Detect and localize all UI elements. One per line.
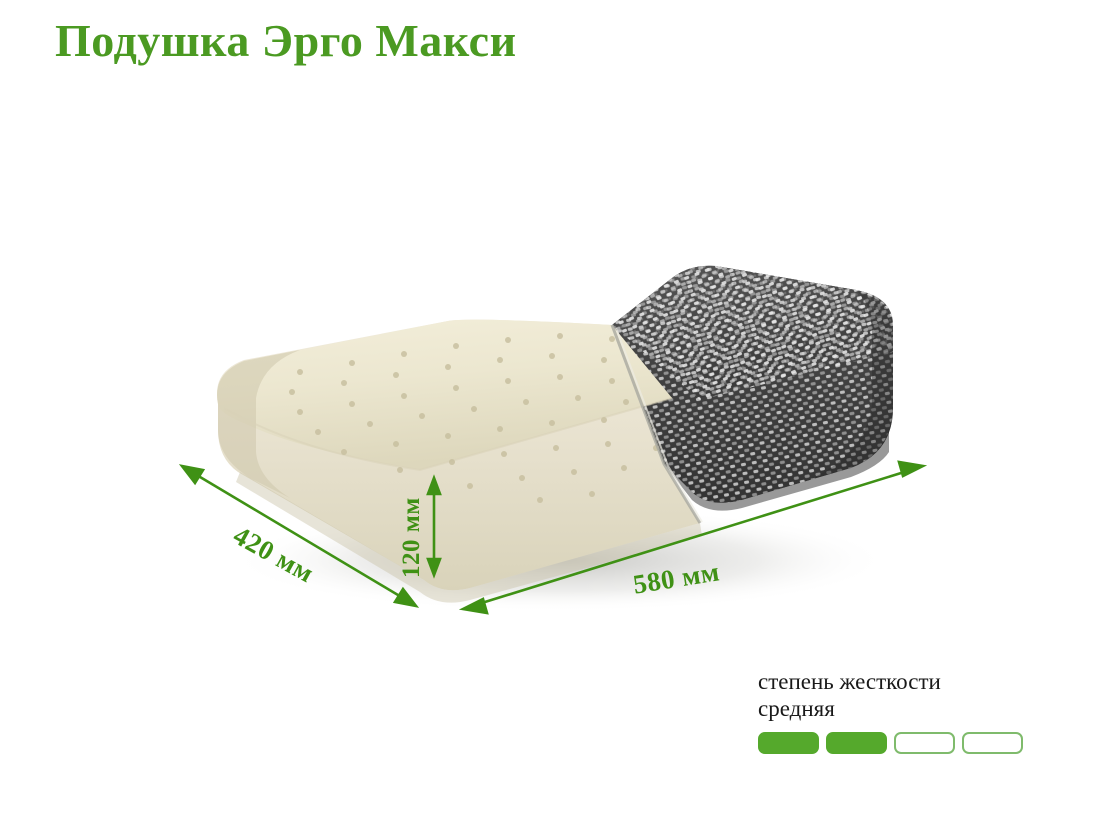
pillow-shadow: [230, 508, 890, 612]
stiffness-caption-line1: степень жесткости: [758, 668, 1038, 695]
dimension-arrows: [182, 462, 923, 613]
dimension-label-height: 120 мм: [398, 497, 426, 578]
mesh-right-shade: [806, 292, 893, 481]
mesh-cover-section: [600, 255, 910, 515]
foam-top-facet: [217, 320, 672, 470]
foam-edge-highlight: [224, 398, 672, 470]
stiffness-caption-line2: средняя: [758, 695, 1038, 722]
foam-perforations: [289, 333, 671, 503]
infographic-page: Подушка Эрго Макси: [0, 0, 1100, 814]
foam-left-end-shade: [217, 350, 300, 498]
stiffness-segment-2: [826, 732, 887, 754]
mesh-top-facet: [612, 266, 891, 398]
page-title: Подушка Эрго Макси: [55, 16, 517, 67]
stiffness-segment-bar: [758, 732, 1038, 754]
dimension-label-depth: 420 мм: [228, 520, 319, 589]
arrow-120: [428, 478, 440, 575]
stiffness-segment-3: [894, 732, 955, 754]
mesh-bottom-shade: [664, 430, 889, 511]
mesh-body: [612, 266, 893, 503]
stiffness-segment-1: [758, 732, 819, 754]
foam-mesh-seam: [612, 325, 700, 523]
foam-mesh-seam-highlight: [616, 328, 702, 522]
stiffness-segment-4: [962, 732, 1023, 754]
stiffness-indicator: степень жесткости средняя: [758, 668, 1038, 754]
dimension-label-width: 580 мм: [631, 556, 722, 600]
